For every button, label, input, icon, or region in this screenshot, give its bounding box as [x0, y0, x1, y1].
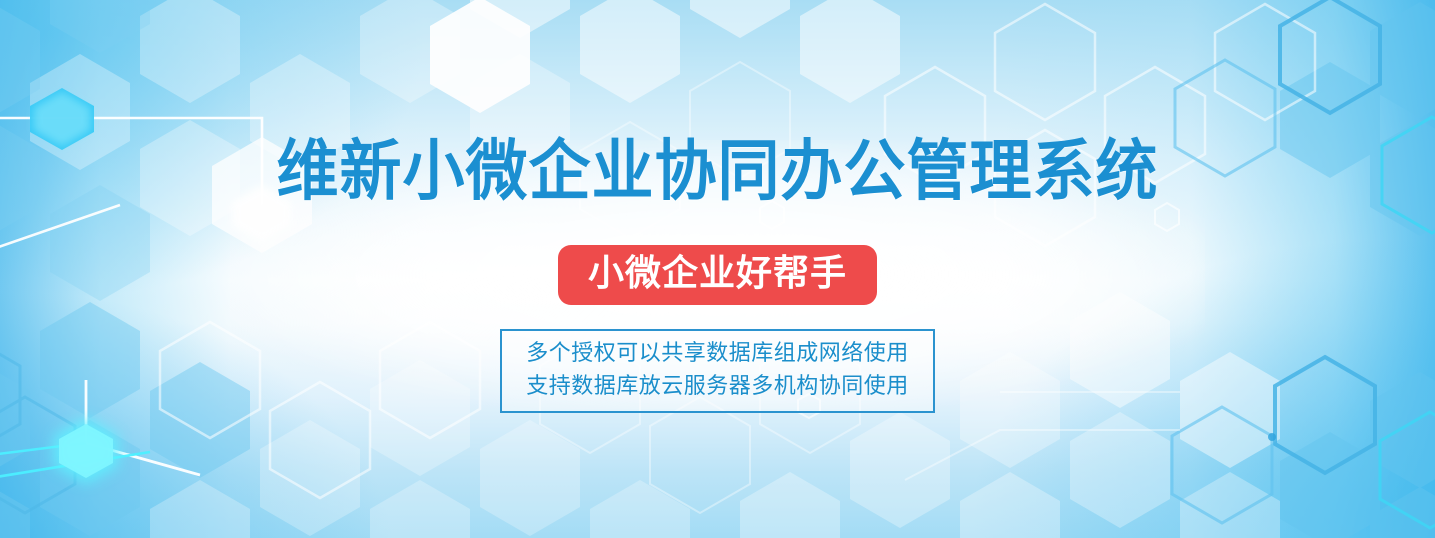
tagline-badge: 小微企业好帮手 — [558, 245, 877, 305]
feature-line-1: 多个授权可以共享数据库组成网络使用 — [526, 337, 909, 370]
promo-banner: 维新小微企业协同办公管理系统 小微企业好帮手 多个授权可以共享数据库组成网络使用… — [0, 0, 1435, 538]
feature-info-box: 多个授权可以共享数据库组成网络使用 支持数据库放云服务器多机构协同使用 — [500, 329, 935, 413]
banner-content: 维新小微企业协同办公管理系统 小微企业好帮手 多个授权可以共享数据库组成网络使用… — [0, 0, 1435, 538]
feature-line-2: 支持数据库放云服务器多机构协同使用 — [526, 370, 909, 403]
page-title: 维新小微企业协同办公管理系统 — [276, 138, 1158, 204]
